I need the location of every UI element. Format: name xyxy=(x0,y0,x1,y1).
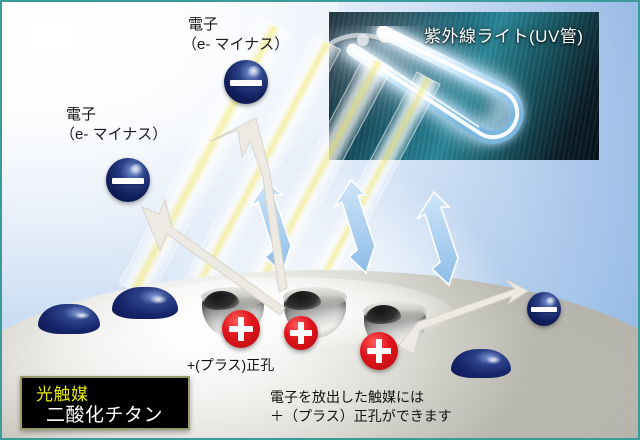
uv-panel-label: 紫外線ライト(UV管) xyxy=(424,22,583,47)
electron-specular xyxy=(248,66,261,77)
free-electron-left xyxy=(106,158,150,202)
crater-shadow xyxy=(286,291,321,310)
note-line1: 電子を放出した触媒には xyxy=(270,388,424,407)
electron-top-label-line2: （e- マイナス） xyxy=(182,36,289,54)
embedded-electron-dome xyxy=(451,349,511,378)
electron-specular xyxy=(130,164,143,175)
emission-arrow-1 xyxy=(211,118,287,292)
hole-badge-1 xyxy=(222,310,260,348)
crater-shadow xyxy=(204,291,239,310)
crater-shadow xyxy=(366,305,401,324)
plus-vertical xyxy=(298,322,303,344)
catalyst-caption-line2: 二酸化チタン xyxy=(46,400,163,427)
minus-sign xyxy=(230,80,263,86)
electron-left-label-line1: 電子 xyxy=(66,106,96,124)
free-electron-top xyxy=(224,60,268,104)
uv-lamp-panel: 紫外線ライト(UV管) xyxy=(329,12,599,160)
free-electron-right xyxy=(527,292,561,326)
photocatalysis-diagram: 紫外線ライト(UV管) xyxy=(0,0,640,440)
minus-sign xyxy=(531,307,556,312)
electron-specular xyxy=(546,297,556,306)
hole-badge-2 xyxy=(284,316,318,350)
incident-arrow-2 xyxy=(334,180,375,273)
embedded-electron-3 xyxy=(451,349,511,395)
minus-sign xyxy=(112,178,145,184)
incident-arrow-3 xyxy=(417,192,458,285)
hole-badge-3 xyxy=(360,332,398,370)
electron-top-label-line1: 電子 xyxy=(188,16,218,34)
catalyst-caption-box: 光触媒 二酸化チタン xyxy=(20,376,190,430)
embedded-electron-glint xyxy=(486,356,502,363)
note-line2: ＋（プラス）正孔ができます xyxy=(270,407,452,426)
embedded-electron-dome xyxy=(38,304,100,334)
electron-left-label-line2: （e- マイナス） xyxy=(60,126,167,144)
incident-arrow-1 xyxy=(250,180,291,273)
plus-vertical xyxy=(238,317,244,341)
embedded-electron-glint xyxy=(150,295,167,303)
embedded-electron-2 xyxy=(112,287,178,339)
plus-vertical xyxy=(376,339,382,363)
embedded-electron-dome xyxy=(112,287,178,319)
embedded-electron-1 xyxy=(38,304,100,352)
hole-label: +(プラス)正孔 xyxy=(187,357,274,374)
